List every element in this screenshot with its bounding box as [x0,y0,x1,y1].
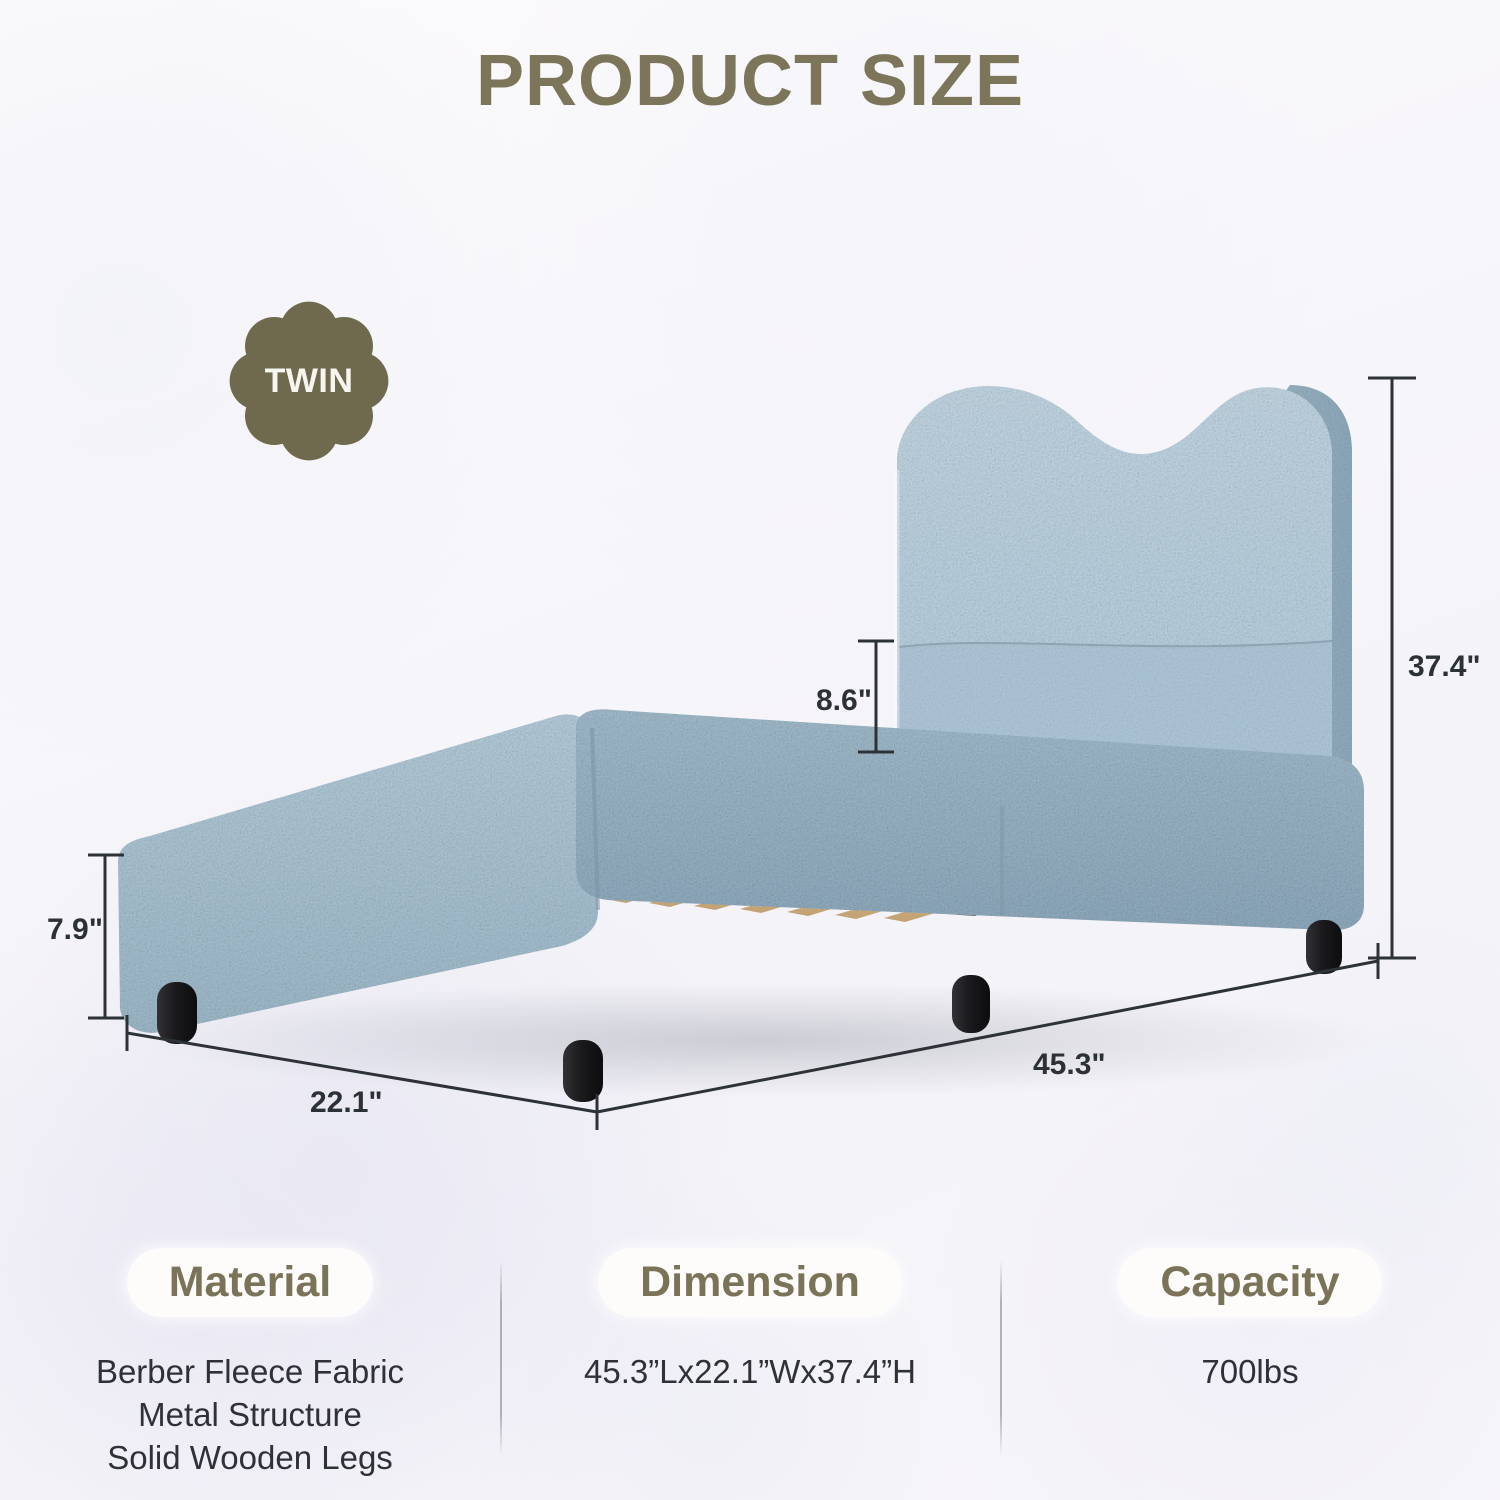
headboard-panel [897,386,1332,905]
side-rail-foot [576,709,1364,930]
info-card-dimension-heading: Dimension [598,1248,902,1317]
info-card-material-heading: Material [127,1248,374,1317]
infographic-canvas: PRODUCT SIZE TWIN [0,0,1500,1500]
leg-mid [952,975,990,1033]
info-card-material: Material Berber Fleece Fabric Metal Stru… [0,1248,500,1478]
dim-label-width: 22.1" [310,1086,383,1120]
leg-front-left [157,982,197,1044]
center-support-rail [418,832,1110,876]
dim-label-length: 45.3" [1033,1048,1106,1082]
dimline-length [597,961,1378,1112]
dim-label-total-height: 37.4" [1408,650,1481,684]
leg-group [157,920,1342,1102]
info-card-material-body: Berber Fleece Fabric Metal Structure Sol… [96,1351,404,1480]
info-line: 700lbs [1201,1351,1298,1394]
bed-shadow [140,982,1380,1098]
info-line: Solid Wooden Legs [96,1437,404,1480]
info-card-capacity: Capacity 700lbs [1000,1248,1500,1478]
leg-rear-right [1306,920,1342,974]
rail-corner-seam [592,728,598,910]
leg-front-right [563,1040,603,1102]
size-badge-twin: TWIN [228,300,390,462]
side-rail-front [118,714,598,1032]
headboard-side [1250,385,1352,905]
info-card-dimension-body: 45.3”Lx22.1”Wx37.4”H [584,1351,916,1394]
dim-label-frame-height: 7.9" [47,913,103,947]
dimension-lines [88,378,1416,1130]
headboard-seam [899,642,1332,648]
info-line: Berber Fleece Fabric [96,1351,404,1394]
info-card-capacity-heading: Capacity [1118,1248,1381,1317]
size-badge-label: TWIN [228,300,390,462]
slat-group [255,766,1223,922]
info-card-capacity-body: 700lbs [1201,1351,1298,1394]
dim-label-headboard-band: 8.6" [816,684,872,718]
info-card-dimension: Dimension 45.3”Lx22.1”Wx37.4”H [500,1248,1000,1478]
rail-top-foot [575,722,1268,812]
deck-cavity [258,770,1250,916]
info-line: 45.3”Lx22.1”Wx37.4”H [584,1351,916,1394]
info-card-row: Material Berber Fleece Fabric Metal Stru… [0,1248,1500,1478]
rail-top-left [128,722,600,868]
page-title: PRODUCT SIZE [0,40,1500,122]
info-line: Metal Structure [96,1394,404,1437]
headboard-base-band [899,642,1332,905]
